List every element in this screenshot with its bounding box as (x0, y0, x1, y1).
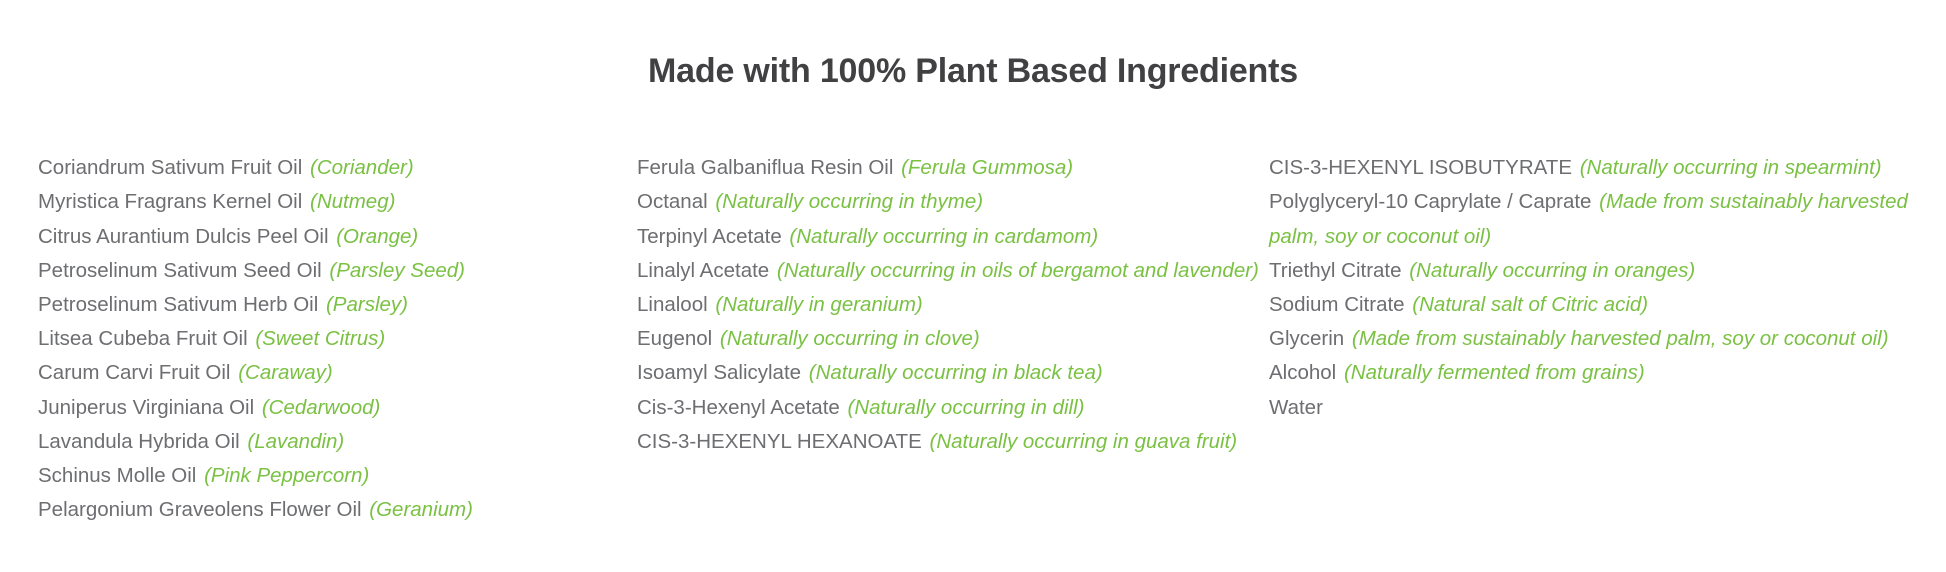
ingredient-name: Alcohol (1269, 361, 1336, 384)
ingredient-name: Petroselinum Sativum Seed Oil (38, 259, 322, 282)
ingredients-column-1: Coriandrum Sativum Fruit Oil (Coriander)… (0, 151, 628, 527)
ingredient-source: (Coriander) (304, 156, 413, 179)
ingredient-item: Myristica Fragrans Kernel Oil (Nutmeg) (38, 185, 628, 219)
ingredient-source: (Naturally occurring in black tea) (803, 361, 1103, 384)
ingredients-column-2: Ferula Galbaniflua Resin Oil (Ferula Gum… (628, 151, 1260, 459)
ingredient-source: (Parsley) (320, 293, 408, 316)
ingredient-name: Glycerin (1269, 327, 1344, 350)
ingredient-source: (Naturally occurring in dill) (842, 396, 1085, 419)
ingredient-item: Cis-3-Hexenyl Acetate (Naturally occurri… (637, 391, 1260, 425)
ingredient-name: Schinus Molle Oil (38, 464, 196, 487)
ingredient-item: Petroselinum Sativum Seed Oil (Parsley S… (38, 254, 628, 288)
ingredient-name: Coriandrum Sativum Fruit Oil (38, 156, 302, 179)
ingredient-source: (Cedarwood) (256, 396, 380, 419)
ingredient-item: Glycerin (Made from sustainably harveste… (1269, 322, 1908, 356)
ingredient-name: Sodium Citrate (1269, 293, 1405, 316)
ingredient-item: CIS-3-HEXENYL HEXANOATE (Naturally occur… (637, 425, 1260, 459)
ingredient-source: (Naturally in geranium) (710, 293, 923, 316)
ingredient-item: Schinus Molle Oil (Pink Peppercorn) (38, 459, 628, 493)
ingredient-item: Carum Carvi Fruit Oil (Caraway) (38, 356, 628, 390)
ingredient-name: Litsea Cubeba Fruit Oil (38, 327, 248, 350)
ingredient-item: Isoamyl Salicylate (Naturally occurring … (637, 356, 1260, 390)
ingredient-name: Isoamyl Salicylate (637, 361, 801, 384)
ingredient-item: Octanal (Naturally occurring in thyme) (637, 185, 1260, 219)
ingredients-columns: Coriandrum Sativum Fruit Oil (Coriander)… (0, 120, 1946, 527)
ingredient-item: Citrus Aurantium Dulcis Peel Oil (Orange… (38, 220, 628, 254)
ingredient-item: Water (1269, 391, 1908, 425)
ingredient-source: (Sweet Citrus) (250, 327, 386, 350)
ingredient-name: Polyglyceryl-10 Caprylate / Caprate (1269, 190, 1591, 213)
ingredient-name: Linalool (637, 293, 708, 316)
ingredient-source: (Ferula Gummosa) (895, 156, 1073, 179)
ingredient-item: Ferula Galbaniflua Resin Oil (Ferula Gum… (637, 151, 1260, 185)
ingredient-name: Cis-3-Hexenyl Acetate (637, 396, 840, 419)
ingredient-name: Myristica Fragrans Kernel Oil (38, 190, 302, 213)
ingredient-source: (Made from sustainably harvested palm, s… (1346, 327, 1888, 350)
ingredient-source: (Naturally occurring in guava fruit) (924, 430, 1237, 453)
ingredient-item: Eugenol (Naturally occurring in clove) (637, 322, 1260, 356)
ingredient-name: Terpinyl Acetate (637, 225, 782, 248)
ingredient-item: CIS-3-HEXENYL ISOBUTYRATE (Naturally occ… (1269, 151, 1908, 185)
ingredient-item: Alcohol (Naturally fermented from grains… (1269, 356, 1908, 390)
ingredient-name: Lavandula Hybrida Oil (38, 430, 240, 453)
ingredient-item: Triethyl Citrate (Naturally occurring in… (1269, 254, 1908, 288)
ingredient-name: Pelargonium Graveolens Flower Oil (38, 498, 362, 521)
ingredient-name: Triethyl Citrate (1269, 259, 1402, 282)
ingredients-section: Made with 100% Plant Based Ingredients C… (0, 28, 1946, 572)
ingredient-name: Eugenol (637, 327, 712, 350)
page-title: Made with 100% Plant Based Ingredients (0, 28, 1946, 92)
ingredient-name: Linalyl Acetate (637, 259, 769, 282)
ingredient-item: Linalyl Acetate (Naturally occurring in … (637, 254, 1260, 288)
ingredient-name: CIS-3-HEXENYL HEXANOATE (637, 430, 922, 453)
ingredient-source: (Orange) (331, 225, 419, 248)
ingredient-name: Citrus Aurantium Dulcis Peel Oil (38, 225, 329, 248)
ingredient-source: (Pink Peppercorn) (198, 464, 369, 487)
ingredient-source: (Naturally occurring in spearmint) (1574, 156, 1882, 179)
ingredient-source: (Naturally occurring in clove) (714, 327, 979, 350)
ingredient-source: (Geranium) (364, 498, 473, 521)
ingredient-source: (Naturally fermented from grains) (1338, 361, 1644, 384)
ingredient-item: Coriandrum Sativum Fruit Oil (Coriander) (38, 151, 628, 185)
ingredient-item: Petroselinum Sativum Herb Oil (Parsley) (38, 288, 628, 322)
ingredient-item: Sodium Citrate (Natural salt of Citric a… (1269, 288, 1908, 322)
ingredient-name: CIS-3-HEXENYL ISOBUTYRATE (1269, 156, 1572, 179)
ingredient-item: Lavandula Hybrida Oil (Lavandin) (38, 425, 628, 459)
ingredient-item: Pelargonium Graveolens Flower Oil (Geran… (38, 493, 628, 527)
ingredient-item: Linalool (Naturally in geranium) (637, 288, 1260, 322)
ingredient-name: Octanal (637, 190, 708, 213)
ingredient-source: (Parsley Seed) (324, 259, 465, 282)
ingredient-source: (Natural salt of Citric acid) (1407, 293, 1649, 316)
ingredient-source: (Naturally occurring in oranges) (1404, 259, 1696, 282)
ingredient-name: Water (1269, 396, 1323, 419)
ingredient-name: Juniperus Virginiana Oil (38, 396, 254, 419)
ingredients-column-3: CIS-3-HEXENYL ISOBUTYRATE (Naturally occ… (1260, 151, 1908, 425)
ingredient-source: (Caraway) (233, 361, 333, 384)
ingredient-source: (Naturally occurring in cardamom) (784, 225, 1098, 248)
ingredient-source: (Naturally occurring in oils of bergamot… (771, 259, 1259, 282)
ingredient-name: Petroselinum Sativum Herb Oil (38, 293, 318, 316)
ingredient-source: (Nutmeg) (304, 190, 395, 213)
ingredient-source: (Lavandin) (242, 430, 345, 453)
ingredient-source: (Naturally occurring in thyme) (710, 190, 983, 213)
ingredient-item: Polyglyceryl-10 Caprylate / Caprate (Mad… (1269, 185, 1908, 253)
ingredient-item: Terpinyl Acetate (Naturally occurring in… (637, 220, 1260, 254)
ingredient-item: Litsea Cubeba Fruit Oil (Sweet Citrus) (38, 322, 628, 356)
ingredient-name: Ferula Galbaniflua Resin Oil (637, 156, 893, 179)
ingredient-name: Carum Carvi Fruit Oil (38, 361, 231, 384)
ingredient-item: Juniperus Virginiana Oil (Cedarwood) (38, 391, 628, 425)
